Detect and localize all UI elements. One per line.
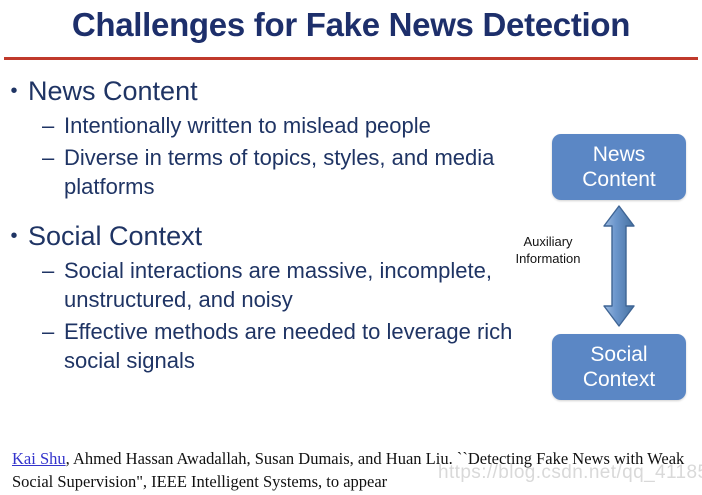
dash-marker-icon: –	[42, 256, 64, 285]
title-divider	[4, 57, 698, 60]
sub-bullet-item: – Diverse in terms of topics, styles, an…	[0, 143, 548, 201]
connector-label-line: Information	[500, 250, 596, 267]
diagram-node-news-content: News Content	[552, 134, 686, 200]
connector-label-line: Auxiliary	[500, 233, 596, 250]
sub-bullet-item: – Effective methods are needed to levera…	[0, 317, 548, 375]
dash-marker-icon: –	[42, 317, 64, 346]
diagram-node-social-context: Social Context	[552, 334, 686, 400]
diagram-node-line: Social	[590, 342, 647, 367]
dash-marker-icon: –	[42, 111, 64, 140]
sub-bullet-item: – Intentionally written to mislead peopl…	[0, 111, 548, 140]
sub-bullet-label: Intentionally written to mislead people	[64, 111, 534, 140]
dash-marker-icon: –	[42, 143, 64, 172]
diagram-node-line: News	[593, 142, 646, 167]
diagram-node-line: Content	[582, 167, 656, 192]
sub-bullet-label: Social interactions are massive, incompl…	[64, 256, 534, 314]
bullet-heading-social-context: • Social Context	[0, 219, 548, 253]
bullet-marker-icon: •	[0, 219, 28, 253]
diagram-node-line: Context	[583, 367, 655, 392]
bullet-heading-label: Social Context	[28, 219, 548, 253]
bullet-heading-news-content: • News Content	[0, 74, 548, 108]
bullet-body: • News Content – Intentionally written t…	[0, 72, 548, 375]
sub-bullet-item: – Social interactions are massive, incom…	[0, 256, 548, 314]
sub-bullet-label: Effective methods are needed to leverage…	[64, 317, 534, 375]
page-title: Challenges for Fake News Detection	[0, 4, 702, 46]
bullet-marker-icon: •	[0, 74, 28, 108]
title-block: Challenges for Fake News Detection	[0, 4, 702, 46]
relationship-diagram: News Content Auxiliary Information Socia…	[498, 128, 698, 408]
sub-bullet-label: Diverse in terms of topics, styles, and …	[64, 143, 534, 201]
citation-author-link[interactable]: Kai Shu	[12, 449, 66, 468]
slide: Challenges for Fake News Detection • New…	[0, 0, 702, 495]
citation-rest-text: , Ahmed Hassan Awadallah, Susan Dumais, …	[12, 449, 684, 491]
bullet-heading-label: News Content	[28, 74, 548, 108]
citation: Kai Shu, Ahmed Hassan Awadallah, Susan D…	[12, 447, 688, 493]
connector-label: Auxiliary Information	[500, 233, 596, 267]
double-headed-arrow-icon	[600, 204, 638, 328]
